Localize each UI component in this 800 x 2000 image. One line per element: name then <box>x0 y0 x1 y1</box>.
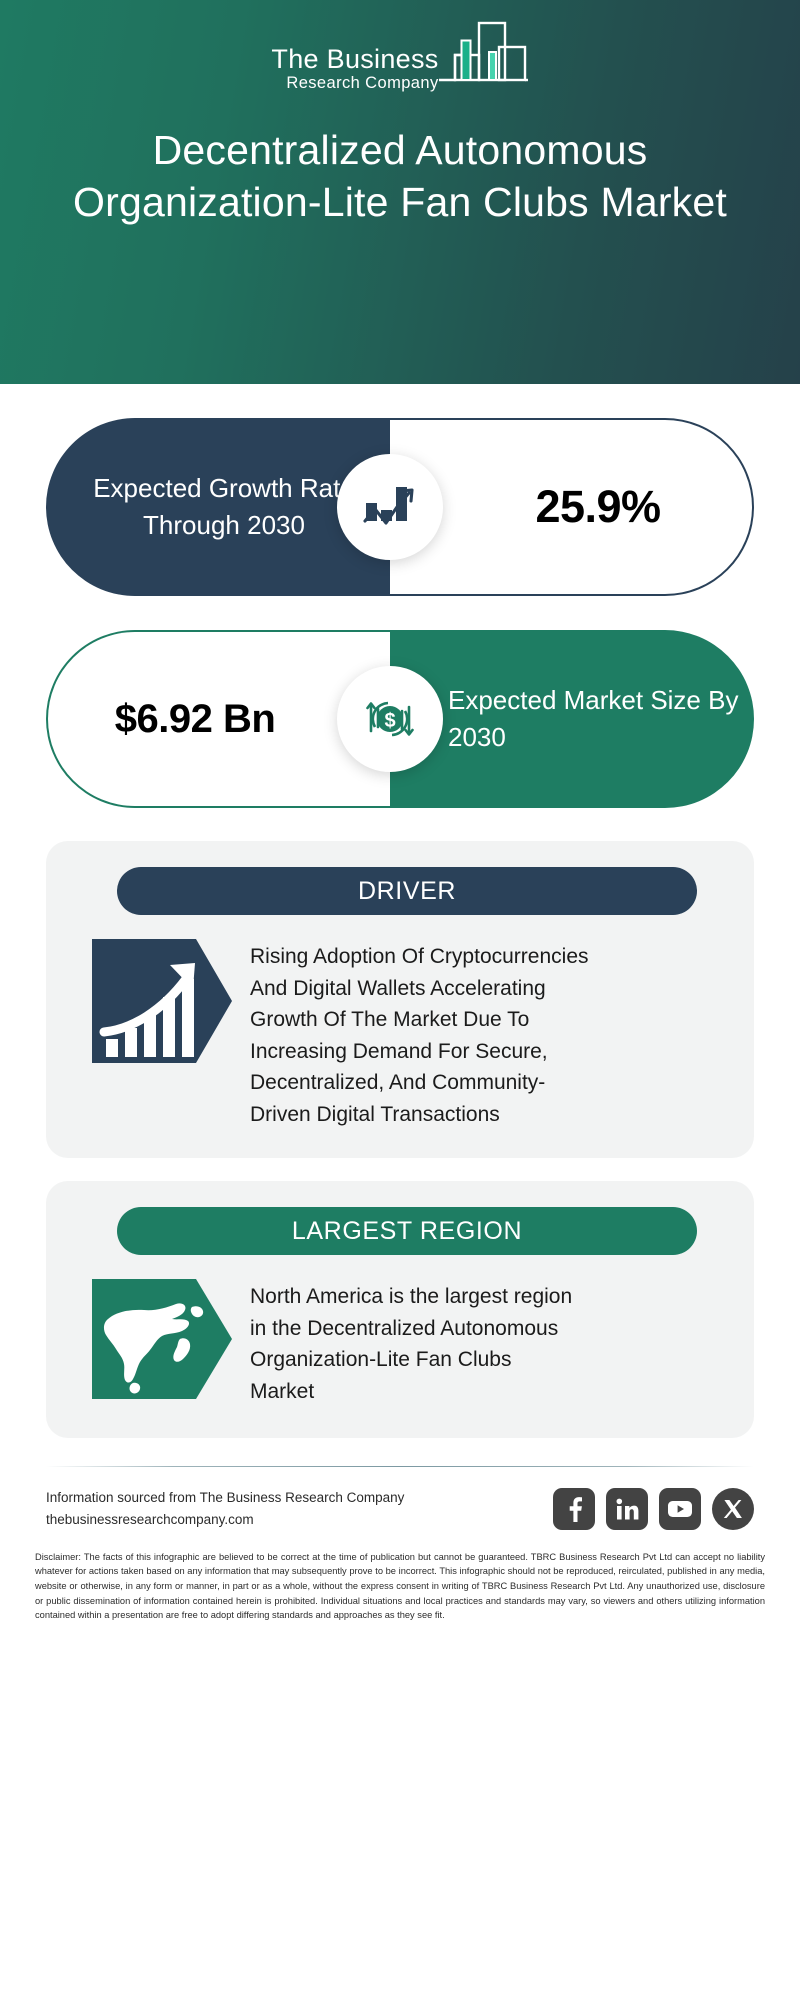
header-banner: The Business Research Company <box>0 0 800 384</box>
infographic-page: The Business Research Company <box>0 0 800 2000</box>
linkedin-icon[interactable] <box>606 1488 648 1530</box>
market-size-label-box: Expected Market Size By 2030 <box>390 630 754 808</box>
growth-rate-value-box: 25.9% <box>390 418 754 596</box>
bar-chart-logo-mark <box>437 19 529 96</box>
driver-panel: DRIVER Rising Adoption Of Crypto <box>46 841 754 1158</box>
logo-text: The Business Research Company <box>271 45 438 98</box>
growth-rate-band: Expected Growth Rate Through 2030 25.9% <box>0 418 800 596</box>
region-heading: LARGEST REGION <box>292 1217 522 1246</box>
market-size-band: $6.92 Bn Expected Market Size By 2030 $ <box>0 630 800 808</box>
region-panel: LARGEST REGION North America is the larg… <box>46 1181 754 1438</box>
growth-bars-arrow-icon <box>92 939 232 1074</box>
svg-text:$: $ <box>384 710 395 732</box>
north-america-map-icon <box>92 1279 232 1410</box>
market-size-value: $6.92 Bn <box>115 697 324 742</box>
page-title: Decentralized Autonomous Organization-Li… <box>0 98 800 228</box>
disclaimer-text: Disclaimer: The facts of this infographi… <box>35 1550 765 1623</box>
dollar-circulation-icon: $ <box>337 666 443 772</box>
driver-heading-pill: DRIVER <box>117 867 697 915</box>
driver-text: Rising Adoption Of Cryptocurrencies And … <box>250 939 600 1130</box>
region-heading-pill: LARGEST REGION <box>117 1207 697 1255</box>
source-info: Information sourced from The Business Re… <box>46 1487 404 1532</box>
driver-heading: DRIVER <box>358 877 456 906</box>
footer: Information sourced from The Business Re… <box>46 1467 754 1532</box>
region-text: North America is the largest region in t… <box>250 1279 580 1407</box>
growth-rate-card: Expected Growth Rate Through 2030 25.9% <box>46 418 754 596</box>
logo-line-1: The Business <box>271 45 438 73</box>
source-line-2[interactable]: thebusinessresearchcompany.com <box>46 1509 404 1531</box>
region-body: North America is the largest region in t… <box>92 1279 724 1410</box>
growth-chart-arrow-icon <box>337 454 443 560</box>
driver-body: Rising Adoption Of Cryptocurrencies And … <box>92 939 724 1130</box>
facebook-icon[interactable] <box>553 1488 595 1530</box>
source-line-1: Information sourced from The Business Re… <box>46 1487 404 1509</box>
market-size-card: $6.92 Bn Expected Market Size By 2030 $ <box>46 630 754 808</box>
social-links <box>553 1488 754 1530</box>
youtube-icon[interactable] <box>659 1488 701 1530</box>
growth-rate-value: 25.9% <box>481 481 660 533</box>
company-logo: The Business Research Company <box>0 20 800 98</box>
logo-line-2: Research Company <box>271 75 438 92</box>
market-size-label: Expected Market Size By 2030 <box>390 682 754 756</box>
x-twitter-icon[interactable] <box>712 1488 754 1530</box>
